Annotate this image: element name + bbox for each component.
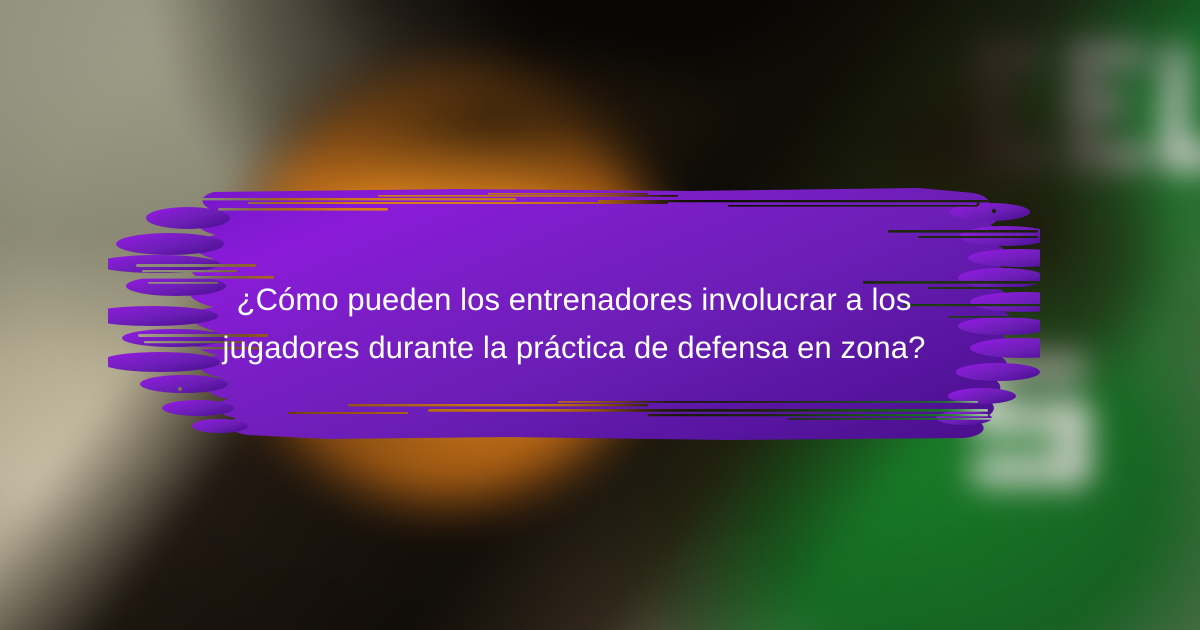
page-title: ¿Cómo pueden los entrenadores involucrar…	[168, 276, 980, 372]
headline-line-2: jugadores durante la práctica de defensa…	[168, 324, 980, 372]
banner-stage: ¿Cómo pueden los entrenadores involucrar…	[0, 0, 1200, 630]
headline-line-1: ¿Cómo pueden los entrenadores involucrar…	[168, 276, 980, 324]
